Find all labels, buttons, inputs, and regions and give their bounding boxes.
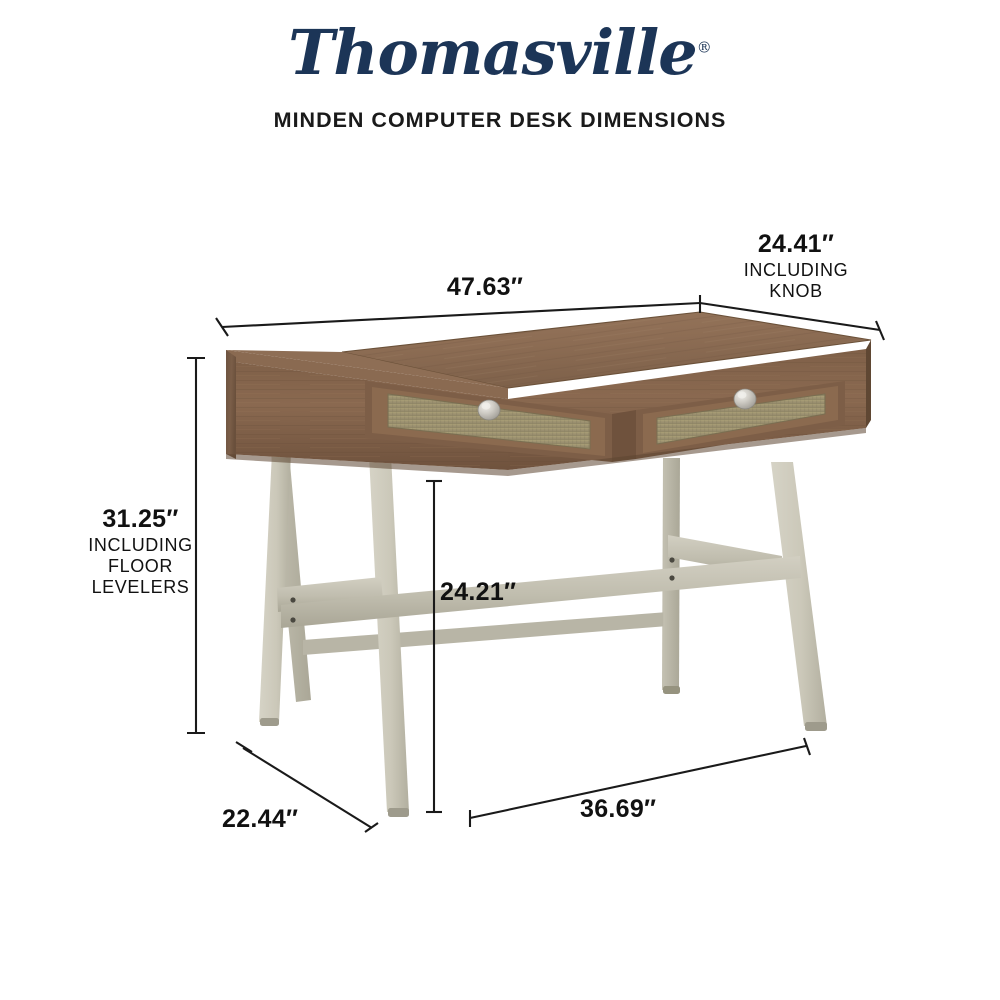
depth-top-value: 24.41″ <box>676 230 916 260</box>
dimension-label-depth-bottom: 22.44″ <box>222 805 362 835</box>
height-left-qualifier-1: INCLUDING <box>58 535 223 556</box>
dimension-diagram-page: Thomasville® MINDEN COMPUTER DESK DIMENS… <box>0 0 1000 1000</box>
depth-bottom-value: 22.44″ <box>222 805 362 835</box>
dimension-label-width-bottom: 36.69″ <box>580 795 740 825</box>
leg-front-right <box>663 458 827 731</box>
depth-top-qualifier-1: INCLUDING <box>676 260 916 281</box>
desk-leg-assembly <box>259 452 827 817</box>
width-top-value: 47.63″ <box>385 273 585 303</box>
depth-top-qualifier-2: KNOB <box>676 281 916 302</box>
desk-left-side-panel <box>226 350 236 459</box>
height-left-value: 31.25″ <box>58 505 223 535</box>
height-left-qualifier-3: LEVELERS <box>58 577 223 598</box>
width-bottom-value: 36.69″ <box>580 795 740 825</box>
dimension-label-height-left: 31.25″ INCLUDING FLOOR LEVELERS <box>58 505 223 598</box>
clearance-value: 24.21″ <box>440 578 590 608</box>
leg-front-left <box>259 452 409 817</box>
desk-illustration <box>0 0 1000 1000</box>
height-left-qualifier-2: FLOOR <box>58 556 223 577</box>
dimension-label-width-top: 47.63″ <box>385 273 585 303</box>
drawer-right-knob <box>734 389 756 409</box>
dimension-label-depth-top: 24.41″ INCLUDING KNOB <box>676 230 916 302</box>
drawer-left-knob <box>478 400 500 420</box>
desk-body <box>226 312 871 476</box>
dimension-label-clearance: 24.21″ <box>440 578 590 608</box>
